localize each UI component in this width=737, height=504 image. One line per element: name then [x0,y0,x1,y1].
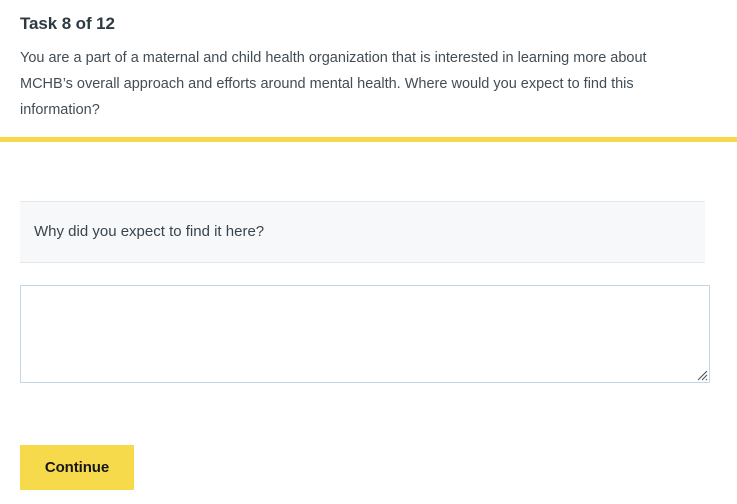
question-band: Why did you expect to find it here? [20,201,705,263]
task-page: Task 8 of 12 You are a part of a materna… [0,0,737,504]
question-label: Why did you expect to find it here? [20,222,264,242]
continue-button[interactable]: Continue [20,445,134,490]
task-header: Task 8 of 12 You are a part of a materna… [0,0,737,123]
task-prompt-text: You are a part of a maternal and child h… [0,35,737,123]
page-title: Task 8 of 12 [0,0,737,35]
answer-textarea[interactable] [20,285,710,383]
yellow-divider [0,137,737,142]
